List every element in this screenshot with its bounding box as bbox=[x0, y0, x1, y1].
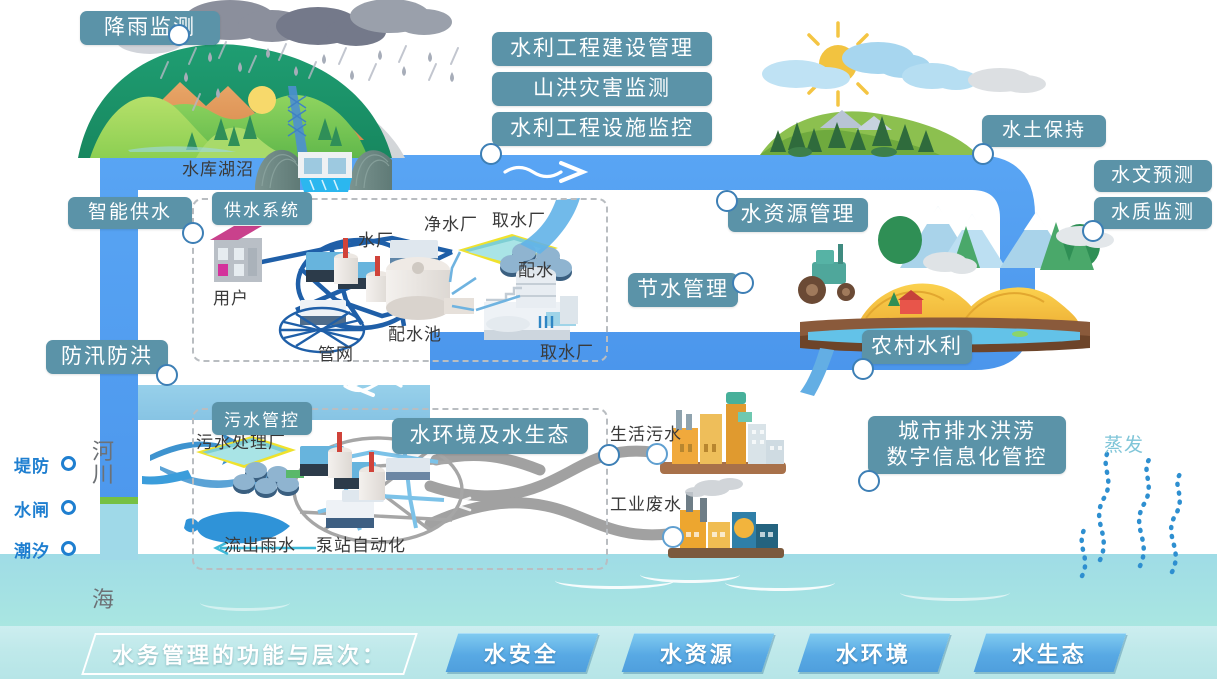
knob-flood-control bbox=[156, 364, 178, 386]
legend-title-text: 水务管理的功能与层次： bbox=[112, 638, 387, 670]
caption-domestic-sewage: 生活污水 bbox=[610, 420, 682, 445]
knob-industrial-wastewater bbox=[662, 526, 684, 548]
label-rainfall-monitoring[interactable]: 降雨监测 bbox=[80, 11, 220, 45]
knob-rural-water bbox=[852, 358, 874, 380]
infographic-canvas: 供水系统 污水管控 降雨监测 水利工程建设管理 山洪灾害监测 水利工程设施监控 … bbox=[0, 0, 1217, 679]
caption-evaporation: 蒸发 bbox=[1104, 430, 1144, 457]
label-water-facility-monitoring[interactable]: 水利工程设施监控 bbox=[492, 112, 712, 146]
marker-tide[interactable]: 潮汐 bbox=[14, 537, 76, 562]
label-rural-water-conservancy[interactable]: 农村水利 bbox=[862, 330, 972, 364]
caption-river: 河川 bbox=[92, 440, 114, 486]
legend-button-water-environment[interactable]: 水环境 bbox=[798, 633, 951, 672]
legend-button-water-safety-label: 水安全 bbox=[484, 637, 559, 669]
caption-industrial-wastewater: 工业废水 bbox=[610, 490, 682, 515]
legend-button-water-safety[interactable]: 水安全 bbox=[446, 633, 599, 672]
knob-water-quality bbox=[1082, 220, 1104, 242]
caption-water-plant: 水厂 bbox=[358, 226, 394, 251]
legend-button-water-resources[interactable]: 水资源 bbox=[622, 633, 775, 672]
label-flood-control[interactable]: 防汛防洪 bbox=[46, 340, 168, 374]
knob-soil-conservation bbox=[972, 143, 994, 165]
caption-reservoir-lake: 水库湖沼 bbox=[182, 155, 254, 180]
label-water-environment-ecology[interactable]: 水环境及水生态 bbox=[392, 418, 588, 454]
legend-title: 水务管理的功能与层次： bbox=[81, 633, 418, 675]
marker-sluice[interactable]: 水闸 bbox=[14, 496, 76, 521]
label-water-resource-management[interactable]: 水资源管理 bbox=[728, 198, 868, 232]
caption-pump-station-automation: 泵站自动化 bbox=[316, 531, 406, 556]
label-smart-water-supply[interactable]: 智能供水 bbox=[68, 197, 192, 229]
legend-button-water-resources-label: 水资源 bbox=[660, 637, 735, 669]
legend-button-water-ecology-label: 水生态 bbox=[1012, 637, 1087, 669]
caption-purification-plant: 净水厂 bbox=[424, 210, 478, 235]
sluice-bullet-icon bbox=[61, 500, 76, 515]
label-water-quality-monitoring[interactable]: 水质监测 bbox=[1094, 197, 1212, 229]
levee-bullet-icon bbox=[61, 456, 76, 471]
caption-intake-plant-bottom: 取水厂 bbox=[540, 338, 594, 363]
knob-smart-supply bbox=[182, 222, 204, 244]
sewage-control-tag: 污水管控 bbox=[212, 402, 312, 435]
caption-intake-plant-top: 取水厂 bbox=[492, 206, 546, 231]
knob-water-saving bbox=[732, 272, 754, 294]
legend-button-water-ecology[interactable]: 水生态 bbox=[974, 633, 1127, 672]
knob-water-environment bbox=[598, 444, 620, 466]
supply-system-tag: 供水系统 bbox=[212, 192, 312, 225]
knob-facility-monitoring bbox=[480, 143, 502, 165]
label-urban-drainage[interactable]: 城市排水洪涝 数字信息化管控 bbox=[868, 416, 1066, 474]
caption-distribution-pool: 配水池 bbox=[388, 320, 442, 345]
caption-outflow-rainwater: 流出雨水 bbox=[224, 531, 296, 556]
knob-water-resource bbox=[716, 190, 738, 212]
caption-user: 用户 bbox=[213, 284, 249, 309]
label-mountain-flood-monitoring[interactable]: 山洪灾害监测 bbox=[492, 72, 712, 106]
label-water-saving-management[interactable]: 节水管理 bbox=[628, 273, 738, 307]
caption-distribution: 配水 bbox=[518, 256, 554, 281]
caption-pipe-network: 管网 bbox=[318, 340, 354, 365]
knob-domestic-sewage bbox=[646, 443, 668, 465]
label-soil-water-conservation[interactable]: 水土保持 bbox=[982, 115, 1106, 147]
marker-tide-label: 潮汐 bbox=[14, 542, 50, 561]
caption-sea: 海 bbox=[92, 582, 115, 614]
label-hydrological-forecast[interactable]: 水文预测 bbox=[1094, 160, 1212, 192]
knob-rainfall bbox=[168, 24, 190, 46]
marker-levee-label: 堤防 bbox=[14, 457, 50, 476]
marker-levee[interactable]: 堤防 bbox=[14, 452, 76, 477]
legend-button-water-environment-label: 水环境 bbox=[836, 637, 911, 669]
bottom-legend-bar: 水务管理的功能与层次： 水安全 水资源 水环境 水生态 bbox=[0, 626, 1217, 679]
knob-urban-drainage bbox=[858, 470, 880, 492]
marker-sluice-label: 水闸 bbox=[14, 501, 50, 520]
label-water-project-construction[interactable]: 水利工程建设管理 bbox=[492, 32, 712, 66]
tide-bullet-icon bbox=[61, 541, 76, 556]
